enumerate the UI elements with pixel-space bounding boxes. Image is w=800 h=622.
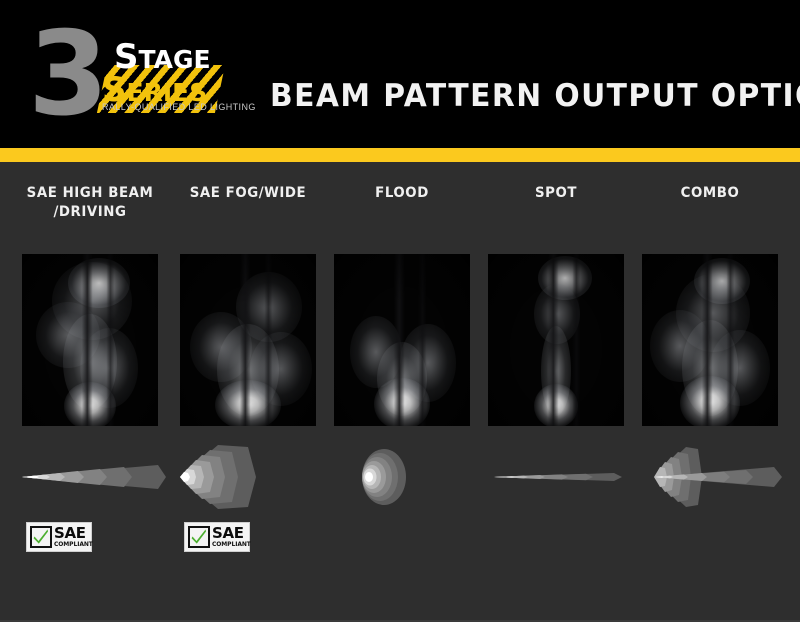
beam-photo-sae-high-beam-driving [22, 254, 158, 426]
beam-diagram-flood [320, 444, 484, 510]
beam-option-label: SPOT [479, 184, 634, 203]
stage-series-logo: 3 STAGE SERIES RALLY-QUALIFIED LED LIGHT… [28, 26, 248, 130]
sae-badge-main: SAE [54, 526, 93, 541]
logo-wordmark: STAGE SERIES [94, 42, 254, 108]
beam-pattern-infographic: 3 STAGE SERIES RALLY-QUALIFIED LED LIGHT… [0, 0, 800, 622]
beam-option-column: SPOT [488, 162, 624, 608]
beam-diagram-fog-wide [166, 444, 330, 510]
beam-diagram-spot [474, 444, 638, 510]
sae-compliant-badge: SAE COMPLIANT [26, 522, 92, 552]
checkmark-icon [30, 526, 52, 548]
beam-option-label: FLOOD [325, 184, 480, 203]
beam-option-column: SAE HIGH BEAM /DRIVING [22, 162, 158, 608]
beam-option-label-line2: /DRIVING [13, 203, 168, 222]
beam-option-column: COMBO [642, 162, 778, 608]
beam-option-label-line1: FLOOD [325, 184, 480, 203]
sae-compliant-badge: SAE COMPLIANT [184, 522, 250, 552]
sae-badge-text: SAE COMPLIANT [212, 526, 251, 548]
logo-stage-rest: TAGE [139, 45, 211, 74]
beam-diagram-combo [628, 444, 792, 510]
sae-badge-main: SAE [212, 526, 251, 541]
sae-badge-text: SAE COMPLIANT [54, 526, 93, 548]
beam-photo-combo [642, 254, 778, 426]
beam-options-grid: SAE HIGH BEAM /DRIVING [0, 162, 800, 608]
beam-photo-flood [334, 254, 470, 426]
sae-badge-sub: COMPLIANT [212, 542, 251, 548]
header-bar: 3 STAGE SERIES RALLY-QUALIFIED LED LIGHT… [0, 0, 800, 148]
beam-option-label-line1: SAE FOG/WIDE [171, 184, 326, 203]
beam-option-label: COMBO [633, 184, 788, 203]
yellow-divider [0, 148, 800, 162]
beam-photo-sae-fog-wide [180, 254, 316, 426]
beam-option-label-line1: COMBO [633, 184, 788, 203]
beam-option-label-line1: SPOT [479, 184, 634, 203]
sae-badge-sub: COMPLIANT [54, 542, 93, 548]
beam-option-column: SAE FOG/WIDE [180, 162, 316, 608]
beam-option-label: SAE HIGH BEAM /DRIVING [13, 184, 168, 222]
beam-option-label-line1: SAE HIGH BEAM [13, 184, 168, 203]
beam-photo-spot [488, 254, 624, 426]
beam-diagram-driving [8, 444, 172, 510]
page-title: BEAM PATTERN OUTPUT OPTIONS [270, 78, 800, 114]
logo-tagline: RALLY-QUALIFIED LED LIGHTING [102, 102, 256, 112]
beam-option-column: FLOOD [334, 162, 470, 608]
beam-option-label: SAE FOG/WIDE [171, 184, 326, 203]
checkmark-icon [188, 526, 210, 548]
